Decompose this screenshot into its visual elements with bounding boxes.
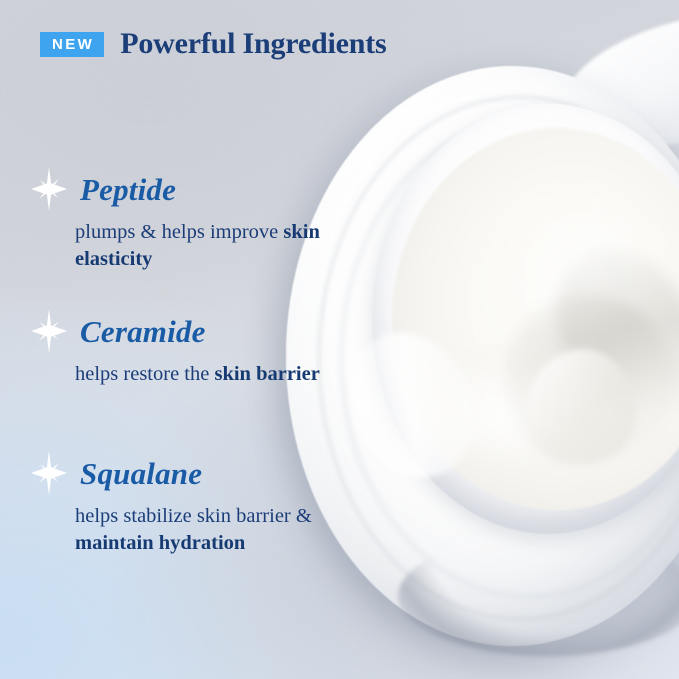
product-infographic: NEW Powerful Ingredients Peptide plumps … — [0, 0, 679, 679]
ingredient-item-ceramide: Ceramide helps restore the skin barrier — [30, 305, 360, 388]
ingredient-heading: Peptide — [30, 163, 360, 215]
ingredient-heading: Ceramide — [30, 305, 360, 357]
ingredient-description-plain: helps restore the — [75, 363, 209, 385]
ingredient-description: helps restore the skin barrier — [75, 361, 335, 388]
sparkle-icon — [30, 450, 68, 496]
ingredient-name: Ceramide — [80, 316, 206, 347]
ingredient-description: plumps & helps improve skin elasticity — [75, 219, 335, 273]
ingredient-item-squalane: Squalane helps stabilize skin barrier & … — [30, 447, 360, 557]
ingredient-description: helps stabilize skin barrier & maintain … — [75, 503, 335, 557]
ingredient-description-bold: maintain hydration — [75, 532, 245, 554]
content-layer: NEW Powerful Ingredients Peptide plumps … — [0, 0, 679, 679]
ingredient-heading: Squalane — [30, 447, 360, 499]
ingredient-description-bold: skin barrier — [214, 363, 319, 385]
page-title: Powerful Ingredients — [120, 27, 386, 61]
ingredient-name: Squalane — [80, 458, 202, 489]
ingredient-description-plain: helps stabilize skin barrier & — [75, 505, 312, 527]
sparkle-icon — [30, 308, 68, 354]
ingredient-item-peptide: Peptide plumps & helps improve skin elas… — [30, 163, 360, 273]
ingredient-description-plain: plumps & helps improve — [75, 221, 278, 243]
new-badge: NEW — [40, 32, 104, 57]
sparkle-icon — [30, 166, 68, 212]
header: NEW Powerful Ingredients — [40, 27, 386, 61]
ingredient-name: Peptide — [80, 174, 176, 205]
